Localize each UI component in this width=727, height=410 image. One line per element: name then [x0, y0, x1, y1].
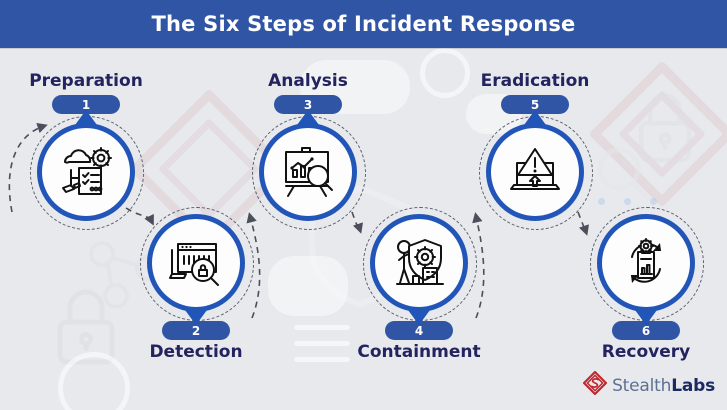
step-label-2: Detection: [121, 343, 271, 362]
step-pointer-4: [408, 310, 430, 325]
step-analysis[interactable]: Analysis 3: [233, 72, 383, 221]
logo-text-stealth: Stealth: [612, 376, 671, 396]
stealthlabs-logo[interactable]: StealthLabs: [583, 371, 715, 400]
step-label-4: Containment: [344, 343, 494, 362]
refresh-clipboard-gear-icon: [619, 238, 673, 288]
step-circle-body-5[interactable]: [486, 123, 584, 221]
step-preparation[interactable]: Preparation 1: [11, 72, 161, 221]
step-circle-body-2[interactable]: [147, 214, 245, 312]
step-label-6: Recovery: [571, 343, 721, 362]
step-circle-1[interactable]: [37, 123, 135, 221]
watermark-lock-left: [50, 282, 122, 373]
step-circle-5[interactable]: [486, 123, 584, 221]
watermark-bar-1: [294, 325, 350, 330]
watermark-panel-mid: [268, 256, 348, 316]
step-label-5: Eradication: [460, 72, 610, 91]
step-detection[interactable]: 2 Detection: [121, 214, 271, 362]
watermark-dot-2: [624, 198, 631, 205]
step-pointer-6: [635, 310, 657, 325]
watermark-bar-2: [294, 341, 350, 346]
watermark-lock-right: [632, 86, 698, 171]
laptop-warning-upload-icon: [507, 147, 563, 197]
step-label-1: Preparation: [11, 72, 161, 91]
page-title: The Six Steps of Incident Response: [152, 12, 576, 36]
stealthlabs-diamond-s-icon: [583, 371, 607, 400]
step-eradication[interactable]: Eradication 5: [460, 72, 610, 221]
cloud-gear-checklist-pencil-icon: [57, 146, 115, 198]
step-circle-body-6[interactable]: [597, 214, 695, 312]
step-circle-2[interactable]: [147, 214, 245, 312]
header-bar: The Six Steps of Incident Response: [0, 0, 727, 48]
step-circle-body-4[interactable]: [370, 214, 468, 312]
step-recovery[interactable]: 6 Recovery: [571, 214, 721, 362]
step-label-3: Analysis: [233, 72, 383, 91]
binary-window-lock-magnifier-icon: [168, 238, 224, 288]
logo-text-labs: Labs: [671, 376, 715, 396]
step-circle-6[interactable]: [597, 214, 695, 312]
watermark-dot-3: [650, 198, 657, 205]
presentation-chart-magnifier-icon: [280, 146, 336, 198]
watermark-bar-3: [294, 357, 350, 362]
step-circle-body-3[interactable]: [259, 123, 357, 221]
step-pointer-2: [185, 310, 207, 325]
step-circle-body-1[interactable]: [37, 123, 135, 221]
step-containment[interactable]: 4 Containment: [344, 214, 494, 362]
person-shield-buildings-icon: [391, 238, 447, 288]
stealthlabs-wordmark: StealthLabs: [612, 376, 715, 396]
infographic-canvas: The Six Steps of Incident Response Prepa…: [0, 0, 727, 410]
watermark-ring-bottom-left: [58, 352, 130, 410]
step-circle-3[interactable]: [259, 123, 357, 221]
step-circle-4[interactable]: [370, 214, 468, 312]
